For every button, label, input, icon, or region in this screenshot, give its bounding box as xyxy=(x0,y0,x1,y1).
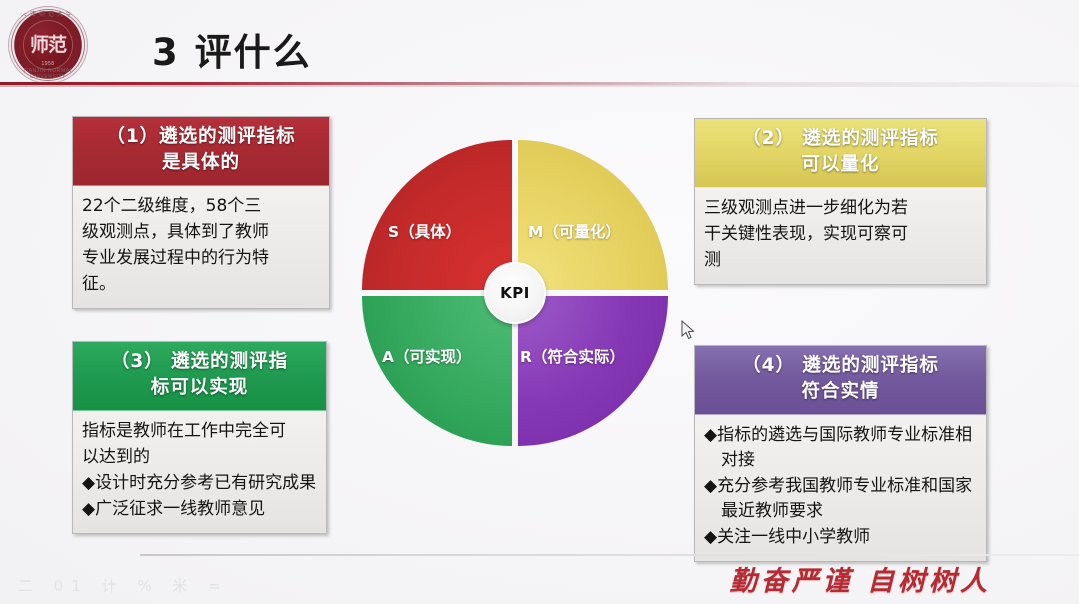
mouse-cursor-icon xyxy=(681,320,695,340)
card-2-body-line: 测 xyxy=(704,248,977,273)
page-title: 3 评什么 xyxy=(152,22,312,76)
card-criterion-1: （1）遴选的测评指标 是具体的 22个二级维度，58个三 级观测点，具体到了教师… xyxy=(72,116,330,309)
card-4-bullet: ◆指标的遴选与国际教师专业标准相对接 xyxy=(704,423,977,473)
pie-label-specific: S（具体） xyxy=(388,220,461,242)
card-4-bullet: ◆关注一线中小学教师 xyxy=(704,525,977,550)
card-1-body-line: 级观测点，具体到了教师 xyxy=(82,220,320,245)
footer-divider xyxy=(140,554,1079,556)
card-3-bullet: ◆设计时充分参考已有研究成果 xyxy=(82,471,317,496)
card-2-heading: （2） 遴选的测评指标 可以量化 xyxy=(695,119,986,188)
card-1-body: 22个二级维度，58个三 级观测点，具体到了教师 专业发展过程中的行为特 征。 xyxy=(73,186,329,309)
seal-bottom-text: TIANJIN NORMAL UNIVERSITY xyxy=(8,68,88,80)
pie-slice-measurable xyxy=(518,140,668,290)
card-1-heading-line2: 是具体的 xyxy=(79,150,323,176)
card-2-body-line: 干关键性表现，实现可察可 xyxy=(704,222,977,247)
card-4-body: ◆指标的遴选与国际教师专业标准相对接 ◆充分参考我国教师专业标准和国家最近教师要… xyxy=(695,415,986,562)
card-2-body-line: 三级观测点进一步细化为若 xyxy=(704,196,977,221)
card-3-heading-line1: （3） 遴选的测评指 xyxy=(79,349,320,375)
card-criterion-4: （4） 遴选的测评指标 符合实情 ◆指标的遴选与国际教师专业标准相对接 ◆充分参… xyxy=(694,345,987,562)
pie-slice-realistic xyxy=(518,296,668,446)
card-4-heading: （4） 遴选的测评指标 符合实情 xyxy=(695,346,986,415)
card-1-heading-line1: （1）遴选的测评指标 xyxy=(79,124,323,150)
card-3-heading-line2: 标可以实现 xyxy=(79,375,320,401)
card-2-heading-line1: （2） 遴选的测评指标 xyxy=(701,126,980,152)
card-4-heading-line1: （4） 遴选的测评指标 xyxy=(701,353,980,379)
pie-label-attainable: A（可实现） xyxy=(382,345,472,367)
card-2-body: 三级观测点进一步细化为若 干关键性表现，实现可察可 测 xyxy=(695,188,986,284)
card-1-body-line: 22个二级维度，58个三 xyxy=(82,194,320,219)
card-3-bullet: ◆广泛征求一线教师意见 xyxy=(82,497,317,522)
university-seal-logo: 天津师范大学 师范 1958 TIANJIN NORMAL UNIVERSITY xyxy=(8,6,88,84)
pie-label-measurable: M（可量化） xyxy=(528,220,621,242)
card-3-body: 指标是教师在工作中完全可 以达到的 ◆设计时充分参考已有研究成果 ◆广泛征求一线… xyxy=(73,411,326,534)
card-1-body-line: 征。 xyxy=(82,272,320,297)
footer-ghost-artifacts: 二 01 计 % 米 = xyxy=(18,575,229,596)
university-motto: 勤奋严谨 自树树人 xyxy=(730,559,991,598)
title-divider-secondary xyxy=(0,85,1079,87)
card-4-bullet: ◆充分参考我国教师专业标准和国家最近教师要求 xyxy=(704,474,977,524)
kpi-smart-pie-chart: S（具体） M（可量化） A（可实现） R（符合实际） KPI xyxy=(362,140,668,446)
card-criterion-2: （2） 遴选的测评指标 可以量化 三级观测点进一步细化为若 干关键性表现，实现可… xyxy=(694,118,987,285)
pie-slice-attainable xyxy=(362,296,512,446)
card-1-body-line: 专业发展过程中的行为特 xyxy=(82,246,320,271)
pie-label-realistic: R（符合实际） xyxy=(520,345,625,367)
card-3-heading: （3） 遴选的测评指 标可以实现 xyxy=(73,342,326,411)
card-4-heading-line2: 符合实情 xyxy=(701,379,980,405)
seal-center-text: 师范 xyxy=(30,36,66,55)
pie-center-hub: KPI xyxy=(484,262,546,324)
seal-top-text: 天津师范大学 xyxy=(8,9,88,18)
pie-slice-specific xyxy=(362,140,512,290)
pie-center-label: KPI xyxy=(500,284,530,302)
card-criterion-3: （3） 遴选的测评指 标可以实现 指标是教师在工作中完全可 以达到的 ◆设计时充… xyxy=(72,341,327,534)
card-3-body-line: 指标是教师在工作中完全可 xyxy=(82,419,317,444)
card-3-body-line: 以达到的 xyxy=(82,445,317,470)
card-1-heading: （1）遴选的测评指标 是具体的 xyxy=(73,117,329,186)
seal-year: 1958 xyxy=(8,61,88,67)
card-2-heading-line2: 可以量化 xyxy=(701,152,980,178)
